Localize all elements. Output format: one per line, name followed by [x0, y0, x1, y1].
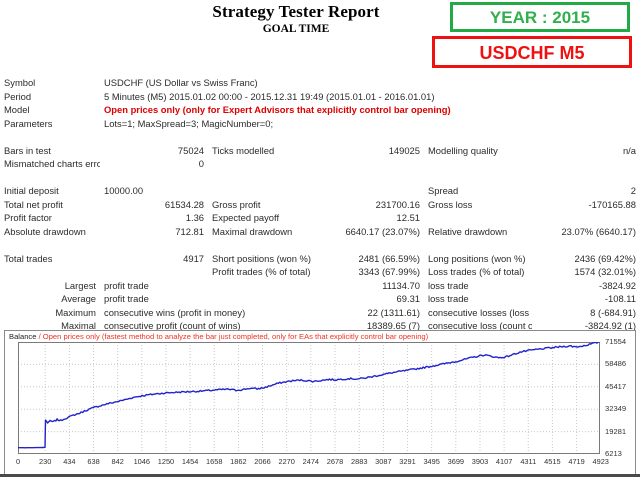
chart-x-axis: 0230434638842104612501454165818622066227… — [18, 457, 600, 471]
loss-trades-value: 1574 (32.01%) — [532, 265, 640, 279]
x-axis-tick: 3291 — [399, 457, 415, 467]
table-row-total-net-profit: Total net profit 61534.28 Gross profit 2… — [0, 198, 640, 212]
total-net-profit-value: 61534.28 — [100, 198, 208, 212]
long-positions-label: Long positions (won %) — [424, 252, 532, 266]
x-axis-tick: 230 — [39, 457, 51, 467]
x-axis-tick: 842 — [111, 457, 123, 467]
balance-curve-svg — [18, 342, 600, 454]
spread-label: Spread — [424, 184, 532, 198]
spread-value: 2 — [532, 184, 640, 198]
x-axis-tick: 4311 — [520, 457, 536, 467]
loss-trades-label: Loss trades (% of total) — [424, 265, 532, 279]
gross-loss-label: Gross loss — [424, 198, 532, 212]
average-loss-trade-label: loss trade — [424, 292, 532, 306]
table-row-profit-factor: Profit factor 1.36 Expected payoff 12.51 — [0, 211, 640, 225]
profit-factor-label: Profit factor — [0, 211, 100, 225]
modelling-quality-label: Modelling quality — [424, 144, 532, 158]
empty-cell — [208, 279, 316, 293]
row-spacer — [0, 130, 640, 144]
y-axis-tick: 32349 — [605, 405, 626, 413]
average-loss-trade-value: -108.11 — [532, 292, 640, 306]
expected-payoff-label: Expected payoff — [208, 211, 316, 225]
bottom-rule — [0, 474, 640, 477]
table-row-maximum: Maximum consecutive wins (profit in mone… — [0, 306, 640, 320]
y-axis-tick: 45417 — [605, 383, 626, 391]
parameters-value: Lots=1; MaxSpread=3; MagicNumber=0; — [100, 117, 640, 131]
modelling-quality-value: n/a — [532, 144, 640, 158]
empty-cell — [532, 211, 640, 225]
row-spacer — [0, 238, 640, 252]
x-axis-tick: 638 — [87, 457, 99, 467]
empty-cell — [532, 157, 640, 171]
empty-cell — [100, 265, 208, 279]
x-axis-tick: 434 — [63, 457, 75, 467]
chart-plot-area — [18, 342, 600, 454]
model-value: Open prices only (only for Expert Adviso… — [100, 103, 640, 117]
x-axis-tick: 1658 — [206, 457, 222, 467]
max-consecutive-losses-value: 8 (-684.91) — [532, 306, 640, 320]
year-stamp-badge: YEAR : 2015 — [450, 2, 630, 32]
table-row-absolute-drawdown: Absolute drawdown 712.81 Maximal drawdow… — [0, 225, 640, 239]
bars-in-test-label: Bars in test — [0, 144, 100, 158]
x-axis-tick: 4515 — [544, 457, 560, 467]
average-label: Average — [0, 292, 100, 306]
absolute-drawdown-value: 712.81 — [100, 225, 208, 239]
largest-label: Largest — [0, 279, 100, 293]
table-row-model: Model Open prices only (only for Expert … — [0, 103, 640, 117]
short-positions-value: 2481 (66.59%) — [316, 252, 424, 266]
maximal-drawdown-label: Maximal drawdown — [208, 225, 316, 239]
ticks-modelled-value: 149025 — [316, 144, 424, 158]
x-axis-tick: 3495 — [423, 457, 439, 467]
x-axis-tick: 2270 — [278, 457, 294, 467]
table-row-largest: Largest profit trade 11134.70 loss trade… — [0, 279, 640, 293]
report-table: Symbol USDCHF (US Dollar vs Swiss Franc)… — [0, 76, 640, 346]
period-label: Period — [0, 90, 100, 104]
empty-cell — [316, 157, 424, 171]
maximum-label: Maximum — [0, 306, 100, 320]
x-axis-tick: 1250 — [158, 457, 174, 467]
profit-trades-label: Profit trades (% of total) — [208, 265, 316, 279]
total-trades-label: Total trades — [0, 252, 100, 266]
x-axis-tick: 0 — [16, 457, 20, 467]
balance-chart: Balance / Open prices only (fastest meth… — [4, 330, 636, 476]
largest-profit-trade-value: 11134.70 — [316, 279, 424, 293]
period-value: 5 Minutes (M5) 2015.01.02 00:00 - 2015.1… — [100, 90, 640, 104]
largest-loss-trade-label: loss trade — [424, 279, 532, 293]
empty-cell — [316, 184, 424, 198]
total-trades-value: 4917 — [100, 252, 208, 266]
x-axis-tick: 2883 — [351, 457, 367, 467]
x-axis-tick: 3087 — [375, 457, 391, 467]
y-axis-tick: 19281 — [605, 428, 626, 436]
x-axis-tick: 1046 — [134, 457, 150, 467]
total-net-profit-label: Total net profit — [0, 198, 100, 212]
max-consecutive-wins-label: consecutive wins (profit in money) — [100, 306, 316, 320]
max-consecutive-losses-label: consecutive losses (loss in money) — [424, 306, 532, 320]
relative-drawdown-label: Relative drawdown — [424, 225, 532, 239]
profit-factor-value: 1.36 — [100, 211, 208, 225]
empty-cell — [208, 184, 316, 198]
profit-trades-value: 3343 (67.99%) — [316, 265, 424, 279]
model-label: Model — [0, 103, 100, 117]
x-axis-tick: 4923 — [592, 457, 608, 467]
report-header: Strategy Tester Report GOAL TIME YEAR : … — [0, 0, 640, 76]
gross-loss-value: -170165.88 — [532, 198, 640, 212]
maximal-drawdown-value: 6640.17 (23.07%) — [316, 225, 424, 239]
gross-profit-label: Gross profit — [208, 198, 316, 212]
table-row-period: Period 5 Minutes (M5) 2015.01.02 00:00 -… — [0, 90, 640, 104]
y-axis-tick: 58486 — [605, 360, 626, 368]
x-axis-tick: 1454 — [182, 457, 198, 467]
row-spacer — [0, 171, 640, 185]
empty-cell — [208, 157, 316, 171]
table-row-symbol: Symbol USDCHF (US Dollar vs Swiss Franc) — [0, 76, 640, 90]
expected-payoff-value: 12.51 — [316, 211, 424, 225]
relative-drawdown-value: 23.07% (6640.17) — [532, 225, 640, 239]
table-row-parameters: Parameters Lots=1; MaxSpread=3; MagicNum… — [0, 117, 640, 131]
table-row-total-trades: Total trades 4917 Short positions (won %… — [0, 252, 640, 266]
chart-legend: Balance / Open prices only (fastest meth… — [9, 332, 430, 342]
gross-profit-value: 231700.16 — [316, 198, 424, 212]
initial-deposit-value: 10000.00 — [100, 184, 208, 198]
parameters-label: Parameters — [0, 117, 100, 131]
symbol-stamp-badge: USDCHF M5 — [432, 36, 632, 68]
symbol-value: USDCHF (US Dollar vs Swiss Franc) — [100, 76, 640, 90]
table-row-bars-in-test: Bars in test 75024 Ticks modelled 149025… — [0, 144, 640, 158]
empty-cell — [0, 265, 100, 279]
x-axis-tick: 3699 — [448, 457, 464, 467]
table-row-initial-deposit: Initial deposit 10000.00 Spread 2 — [0, 184, 640, 198]
chart-gridlines — [18, 342, 600, 454]
initial-deposit-label: Initial deposit — [0, 184, 100, 198]
table-row-average: Average profit trade 69.31 loss trade -1… — [0, 292, 640, 306]
x-axis-tick: 4107 — [496, 457, 512, 467]
chart-legend-mode: Open prices only (fastest method to anal… — [43, 332, 428, 341]
mismatched-charts-errors-label: Mismatched charts errors — [0, 157, 100, 171]
largest-profit-trade-label: profit trade — [100, 279, 208, 293]
plot-border — [19, 343, 600, 454]
x-axis-tick: 4719 — [568, 457, 584, 467]
chart-y-axis: 62131928132349454175848671554 — [602, 342, 640, 454]
ticks-modelled-label: Ticks modelled — [208, 144, 316, 158]
symbol-label: Symbol — [0, 76, 100, 90]
x-axis-tick: 1862 — [230, 457, 246, 467]
long-positions-value: 2436 (69.42%) — [532, 252, 640, 266]
table-row-mismatched-charts-errors: Mismatched charts errors 0 — [0, 157, 640, 171]
mismatched-charts-errors-value: 0 — [100, 157, 208, 171]
short-positions-label: Short positions (won %) — [208, 252, 316, 266]
x-axis-tick: 2474 — [303, 457, 319, 467]
empty-cell — [424, 211, 532, 225]
chart-legend-series: Balance — [9, 332, 36, 341]
bars-in-test-value: 75024 — [100, 144, 208, 158]
x-axis-tick: 2066 — [254, 457, 270, 467]
largest-loss-trade-value: -3824.92 — [532, 279, 640, 293]
empty-cell — [208, 292, 316, 306]
table-row-profit-trades: Profit trades (% of total) 3343 (67.99%)… — [0, 265, 640, 279]
absolute-drawdown-label: Absolute drawdown — [0, 225, 100, 239]
x-axis-tick: 2678 — [327, 457, 343, 467]
y-axis-tick: 71554 — [605, 338, 626, 346]
x-axis-tick: 3903 — [472, 457, 488, 467]
empty-cell — [424, 157, 532, 171]
average-profit-trade-label: profit trade — [100, 292, 208, 306]
average-profit-trade-value: 69.31 — [316, 292, 424, 306]
max-consecutive-wins-value: 22 (1311.61) — [316, 306, 424, 320]
